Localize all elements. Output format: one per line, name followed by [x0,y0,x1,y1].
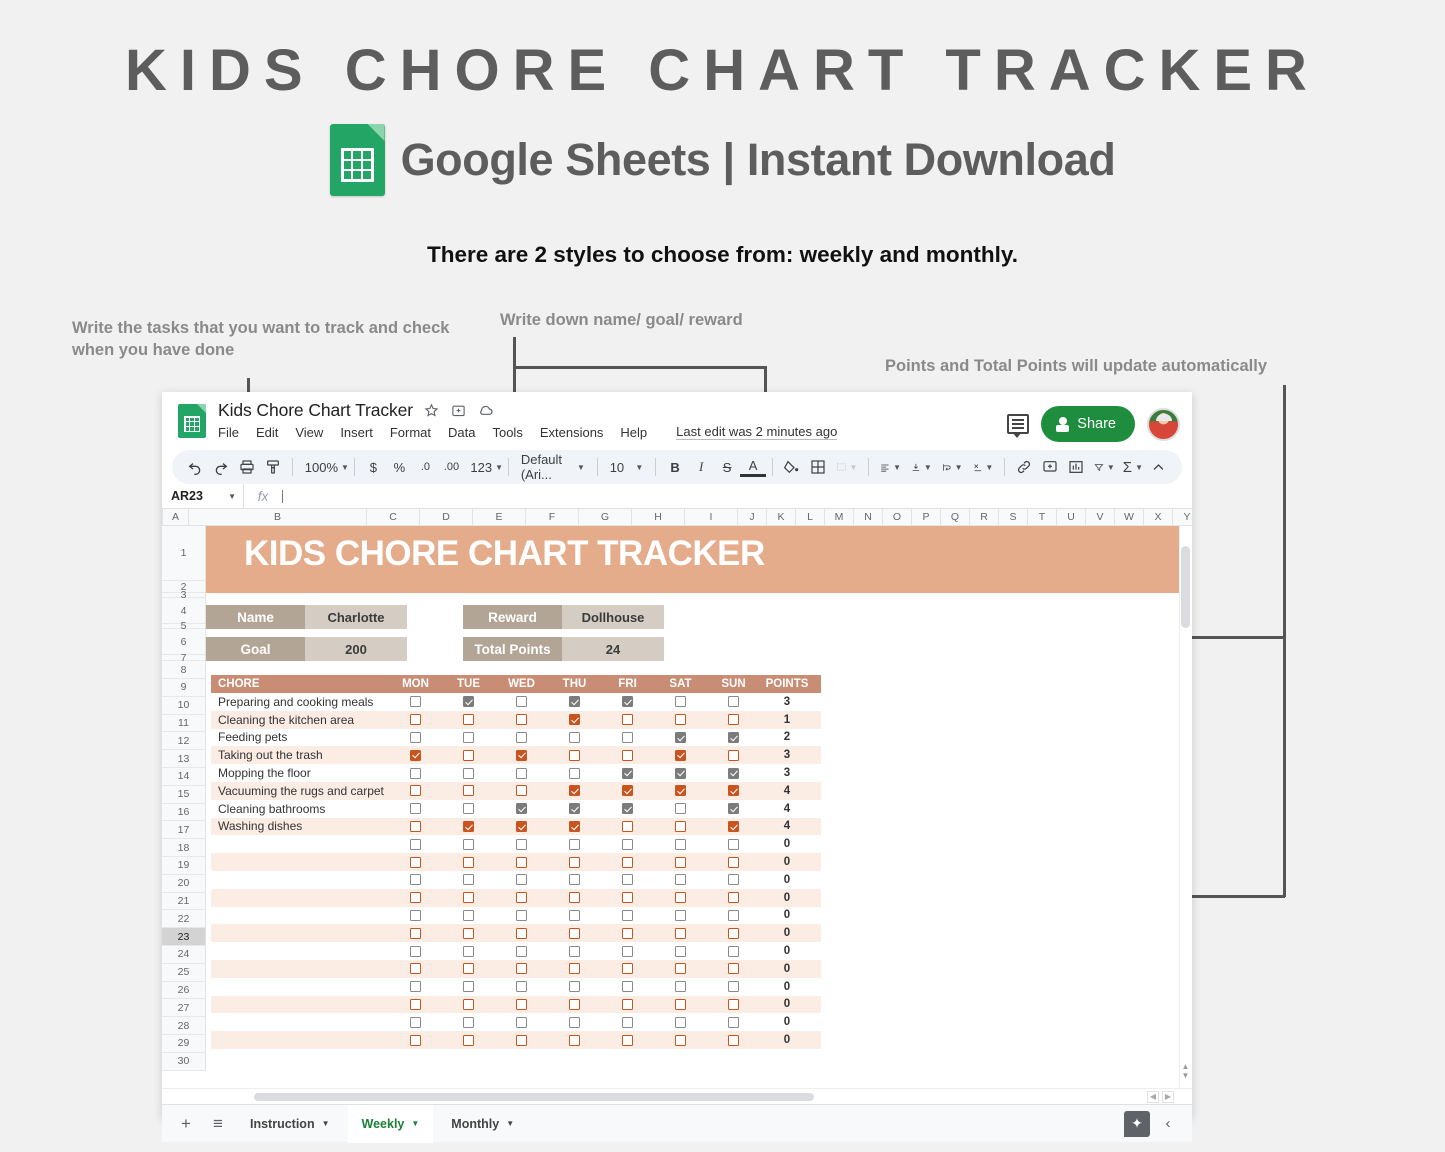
bold-button[interactable]: B [662,454,688,480]
chore-checkbox[interactable] [675,963,686,974]
column-header-t[interactable]: T [1028,509,1057,525]
chore-checkbox-cell-thu[interactable] [548,729,601,747]
chore-checkbox[interactable] [569,1017,580,1028]
vertical-align-icon[interactable]: ▼ [906,454,937,480]
chore-checkbox[interactable] [569,1035,580,1046]
chore-checkbox-cell-mon[interactable] [389,889,442,907]
chore-checkbox[interactable] [675,714,686,725]
chore-checkbox[interactable] [728,785,739,796]
chore-checkbox[interactable] [569,785,580,796]
column-header-x[interactable]: X [1144,509,1173,525]
chore-checkbox[interactable] [622,910,633,921]
chore-checkbox[interactable] [569,999,580,1010]
chevron-down-icon[interactable]: ▼ [322,1119,330,1128]
chore-checkbox[interactable] [675,732,686,743]
chore-checkbox-cell-sat[interactable] [654,907,707,925]
column-header-j[interactable]: J [738,509,767,525]
table-row[interactable]: Feeding pets2 [211,729,821,747]
chore-checkbox[interactable] [410,857,421,868]
menu-file[interactable]: File [218,425,239,440]
chore-checkbox-cell-wed[interactable] [495,996,548,1014]
chore-checkbox[interactable] [516,874,527,885]
chore-checkbox-cell-fri[interactable] [601,996,654,1014]
chore-checkbox[interactable] [728,732,739,743]
chore-checkbox[interactable] [516,946,527,957]
undo-icon[interactable] [182,454,208,480]
chore-name-cell[interactable]: Feeding pets [211,729,389,747]
chore-checkbox[interactable] [463,1017,474,1028]
table-row[interactable]: 0 [211,942,821,960]
chore-checkbox-cell-mon[interactable] [389,746,442,764]
chore-checkbox-cell-thu[interactable] [548,996,601,1014]
chore-checkbox-cell-fri[interactable] [601,711,654,729]
chore-checkbox[interactable] [728,696,739,707]
chore-checkbox[interactable] [516,785,527,796]
chore-checkbox[interactable] [463,857,474,868]
chore-checkbox[interactable] [622,839,633,850]
chore-checkbox[interactable] [675,750,686,761]
chore-checkbox-cell-fri[interactable] [601,889,654,907]
formula-input[interactable] [282,490,283,503]
zoom-select[interactable]: 100%▼ [299,454,348,480]
table-row[interactable]: Cleaning bathrooms4 [211,800,821,818]
strikethrough-button[interactable]: S [714,454,740,480]
column-header-c[interactable]: C [367,509,420,525]
chore-checkbox-cell-thu[interactable] [548,889,601,907]
tab-weekly[interactable]: Weekly ▼ [348,1105,434,1143]
chore-checkbox-cell-mon[interactable] [389,960,442,978]
chore-name-cell[interactable] [211,924,389,942]
chore-name-cell[interactable] [211,996,389,1014]
chore-checkbox-cell-thu[interactable] [548,818,601,836]
table-row[interactable]: 0 [211,996,821,1014]
chore-checkbox-cell-tue[interactable] [442,853,495,871]
chore-checkbox[interactable] [516,714,527,725]
chore-checkbox[interactable] [463,928,474,939]
chore-checkbox-cell-thu[interactable] [548,924,601,942]
chore-checkbox[interactable] [675,928,686,939]
chore-checkbox-cell-mon[interactable] [389,818,442,836]
chore-name-cell[interactable] [211,1013,389,1031]
chore-checkbox[interactable] [516,981,527,992]
chore-checkbox[interactable] [675,981,686,992]
column-header-n[interactable]: N [854,509,883,525]
chore-checkbox[interactable] [675,857,686,868]
chore-checkbox-cell-mon[interactable] [389,1031,442,1049]
filter-icon[interactable]: ▼ [1089,454,1120,480]
chore-checkbox-cell-sun[interactable] [707,764,760,782]
chore-checkbox[interactable] [622,999,633,1010]
table-row[interactable]: 0 [211,1013,821,1031]
chore-checkbox[interactable] [410,999,421,1010]
column-header-h[interactable]: H [632,509,685,525]
column-header-i[interactable]: I [685,509,738,525]
chore-checkbox[interactable] [569,946,580,957]
chore-checkbox-cell-sun[interactable] [707,960,760,978]
chore-checkbox-cell-tue[interactable] [442,942,495,960]
chore-checkbox[interactable] [675,1035,686,1046]
chore-checkbox-cell-sat[interactable] [654,889,707,907]
chore-checkbox-cell-tue[interactable] [442,1013,495,1031]
chore-checkbox-cell-fri[interactable] [601,978,654,996]
table-row[interactable]: 0 [211,960,821,978]
chore-checkbox[interactable] [569,732,580,743]
chore-checkbox-cell-wed[interactable] [495,871,548,889]
chore-name-cell[interactable]: Taking out the trash [211,746,389,764]
share-button[interactable]: Share [1041,406,1135,442]
chore-checkbox-cell-wed[interactable] [495,853,548,871]
chore-checkbox-cell-fri[interactable] [601,835,654,853]
column-header-q[interactable]: Q [941,509,970,525]
chore-checkbox[interactable] [410,928,421,939]
chore-name-cell[interactable] [211,978,389,996]
chore-checkbox-cell-fri[interactable] [601,693,654,711]
chore-checkbox-cell-tue[interactable] [442,711,495,729]
chore-checkbox[interactable] [622,874,633,885]
chore-checkbox[interactable] [463,874,474,885]
chore-checkbox-cell-tue[interactable] [442,978,495,996]
chore-checkbox-cell-mon[interactable] [389,871,442,889]
chore-checkbox-cell-tue[interactable] [442,835,495,853]
name-box[interactable]: AR23▼ [162,484,244,508]
reward-value[interactable]: Dollhouse [562,605,664,629]
table-row[interactable]: Mopping the floor3 [211,764,821,782]
table-row[interactable]: Cleaning the kitchen area1 [211,711,821,729]
collapse-toolbar-icon[interactable] [1146,454,1172,480]
chore-checkbox-cell-sun[interactable] [707,907,760,925]
chore-checkbox[interactable] [516,1035,527,1046]
chore-checkbox-cell-wed[interactable] [495,978,548,996]
chore-checkbox[interactable] [463,714,474,725]
chore-checkbox-cell-sat[interactable] [654,942,707,960]
chore-checkbox[interactable] [728,963,739,974]
menu-tools[interactable]: Tools [492,425,522,440]
chore-checkbox[interactable] [622,714,633,725]
name-value[interactable]: Charlotte [305,605,407,629]
column-header-w[interactable]: W [1115,509,1144,525]
chore-checkbox-cell-thu[interactable] [548,800,601,818]
chore-checkbox-cell-thu[interactable] [548,871,601,889]
chore-checkbox-cell-sat[interactable] [654,924,707,942]
comment-history-icon[interactable] [1007,414,1029,434]
chore-checkbox[interactable] [728,874,739,885]
chore-checkbox-cell-tue[interactable] [442,960,495,978]
chore-checkbox-cell-fri[interactable] [601,1031,654,1049]
chore-checkbox-cell-thu[interactable] [548,746,601,764]
chore-checkbox-cell-thu[interactable] [548,693,601,711]
chore-checkbox[interactable] [622,928,633,939]
italic-button[interactable]: I [688,454,714,480]
menu-view[interactable]: View [295,425,323,440]
chore-checkbox[interactable] [675,946,686,957]
chore-checkbox-cell-tue[interactable] [442,907,495,925]
chevron-down-icon[interactable]: ▼ [506,1119,514,1128]
font-size-select[interactable]: 10▼ [604,454,650,480]
chore-checkbox[interactable] [675,768,686,779]
chore-checkbox-cell-sat[interactable] [654,782,707,800]
chore-checkbox-cell-sat[interactable] [654,996,707,1014]
chore-checkbox-cell-sat[interactable] [654,1031,707,1049]
table-row[interactable]: 0 [211,1031,821,1049]
scroll-step-buttons[interactable]: ▲▼ [1180,1062,1191,1086]
chore-checkbox[interactable] [569,892,580,903]
chore-checkbox-cell-sat[interactable] [654,853,707,871]
chore-checkbox-cell-sat[interactable] [654,729,707,747]
chore-checkbox-cell-wed[interactable] [495,800,548,818]
chore-checkbox[interactable] [622,946,633,957]
chore-checkbox-cell-mon[interactable] [389,782,442,800]
chore-checkbox-cell-wed[interactable] [495,711,548,729]
chore-checkbox-cell-tue[interactable] [442,782,495,800]
chore-checkbox[interactable] [728,1017,739,1028]
functions-icon[interactable]: Σ▼ [1120,454,1146,480]
chore-checkbox[interactable] [728,928,739,939]
chore-checkbox-cell-sun[interactable] [707,853,760,871]
chore-checkbox-cell-sat[interactable] [654,960,707,978]
chore-checkbox[interactable] [569,821,580,832]
chore-checkbox[interactable] [569,910,580,921]
chore-name-cell[interactable]: Cleaning bathrooms [211,800,389,818]
star-icon[interactable] [423,402,440,419]
chore-checkbox-cell-tue[interactable] [442,889,495,907]
row-header-30[interactable]: 30 [162,1053,205,1071]
chore-checkbox[interactable] [410,714,421,725]
table-row[interactable]: 0 [211,853,821,871]
percent-format-button[interactable]: % [386,454,412,480]
chore-checkbox-cell-sun[interactable] [707,996,760,1014]
chore-checkbox-cell-sat[interactable] [654,711,707,729]
chore-checkbox[interactable] [728,750,739,761]
menu-help[interactable]: Help [620,425,647,440]
chore-checkbox-cell-fri[interactable] [601,960,654,978]
chore-checkbox-cell-fri[interactable] [601,871,654,889]
number-format-select[interactable]: 123▼ [464,454,502,480]
chore-checkbox-cell-sun[interactable] [707,1031,760,1049]
chore-checkbox[interactable] [728,714,739,725]
column-header-k[interactable]: K [767,509,796,525]
chore-checkbox[interactable] [463,696,474,707]
table-row[interactable]: 0 [211,924,821,942]
paint-format-icon[interactable] [260,454,286,480]
chore-checkbox-cell-thu[interactable] [548,835,601,853]
chore-checkbox[interactable] [410,732,421,743]
chore-name-cell[interactable] [211,1031,389,1049]
chore-checkbox-cell-mon[interactable] [389,942,442,960]
chore-checkbox[interactable] [728,946,739,957]
chore-checkbox-cell-wed[interactable] [495,729,548,747]
chore-checkbox-cell-thu[interactable] [548,1013,601,1031]
table-row[interactable]: Taking out the trash3 [211,746,821,764]
chore-checkbox-cell-sat[interactable] [654,764,707,782]
chore-checkbox[interactable] [675,874,686,885]
chore-checkbox[interactable] [622,768,633,779]
chore-checkbox[interactable] [622,732,633,743]
chore-checkbox[interactable] [675,839,686,850]
document-title[interactable]: Kids Chore Chart Tracker [218,400,413,421]
chore-checkbox[interactable] [463,892,474,903]
chore-checkbox[interactable] [728,910,739,921]
chore-checkbox[interactable] [622,1017,633,1028]
redo-icon[interactable] [208,454,234,480]
column-header-r[interactable]: R [970,509,999,525]
insert-chart-icon[interactable] [1063,454,1089,480]
chore-checkbox[interactable] [728,839,739,850]
column-header-d[interactable]: D [420,509,473,525]
tab-monthly[interactable]: Monthly ▼ [437,1105,528,1143]
chore-checkbox[interactable] [569,963,580,974]
currency-format-button[interactable]: $ [360,454,386,480]
column-header-m[interactable]: M [825,509,854,525]
chore-name-cell[interactable] [211,889,389,907]
chore-checkbox[interactable] [622,1035,633,1046]
chore-checkbox-cell-fri[interactable] [601,782,654,800]
chore-checkbox-cell-sun[interactable] [707,711,760,729]
chore-checkbox[interactable] [463,803,474,814]
chore-checkbox-cell-sat[interactable] [654,693,707,711]
chore-checkbox[interactable] [516,750,527,761]
chore-checkbox-cell-thu[interactable] [548,764,601,782]
chore-checkbox[interactable] [463,768,474,779]
chore-name-cell[interactable] [211,871,389,889]
chore-checkbox-cell-tue[interactable] [442,924,495,942]
chore-checkbox-cell-sun[interactable] [707,835,760,853]
chore-checkbox-cell-sun[interactable] [707,942,760,960]
chore-checkbox[interactable] [410,696,421,707]
column-header-v[interactable]: V [1086,509,1115,525]
chore-checkbox[interactable] [410,750,421,761]
increase-decimal-button[interactable]: .00 [438,454,464,480]
chore-checkbox-cell-sat[interactable] [654,1013,707,1031]
fill-color-icon[interactable] [779,454,805,480]
add-sheet-icon[interactable]: + [172,1110,200,1138]
table-row[interactable]: Preparing and cooking meals3 [211,693,821,711]
chore-checkbox-cell-fri[interactable] [601,764,654,782]
chore-checkbox-cell-sun[interactable] [707,1013,760,1031]
chore-checkbox-cell-fri[interactable] [601,907,654,925]
chore-checkbox[interactable] [516,910,527,921]
text-color-button[interactable]: A [740,458,766,477]
chore-checkbox[interactable] [569,857,580,868]
chore-checkbox-cell-thu[interactable] [548,907,601,925]
chore-checkbox[interactable] [410,963,421,974]
chore-checkbox[interactable] [728,981,739,992]
chore-checkbox[interactable] [728,857,739,868]
chore-checkbox[interactable] [569,768,580,779]
chore-name-cell[interactable]: Vacuuming the rugs and carpet [211,782,389,800]
chore-checkbox-cell-tue[interactable] [442,1031,495,1049]
chore-checkbox[interactable] [569,714,580,725]
chore-checkbox-cell-thu[interactable] [548,1031,601,1049]
horizontal-scroll-buttons[interactable]: ◀▶ [1147,1091,1174,1103]
chore-checkbox-cell-wed[interactable] [495,818,548,836]
chore-checkbox[interactable] [516,963,527,974]
chore-checkbox-cell-tue[interactable] [442,818,495,836]
chore-checkbox-cell-sat[interactable] [654,800,707,818]
chore-checkbox-cell-tue[interactable] [442,996,495,1014]
chore-checkbox[interactable] [463,999,474,1010]
chore-checkbox[interactable] [675,910,686,921]
chore-checkbox-cell-fri[interactable] [601,1013,654,1031]
chore-checkbox[interactable] [728,892,739,903]
move-to-folder-icon[interactable] [450,402,467,419]
chore-checkbox[interactable] [410,1035,421,1046]
chore-checkbox-cell-wed[interactable] [495,924,548,942]
chore-checkbox[interactable] [463,1035,474,1046]
column-header-u[interactable]: U [1057,509,1086,525]
chore-checkbox-cell-wed[interactable] [495,942,548,960]
chore-checkbox[interactable] [728,803,739,814]
chore-checkbox-cell-sun[interactable] [707,871,760,889]
chore-checkbox-cell-fri[interactable] [601,942,654,960]
chore-checkbox-cell-sat[interactable] [654,746,707,764]
column-header-a[interactable]: A [163,509,189,525]
chore-checkbox-cell-sun[interactable] [707,924,760,942]
column-header-g[interactable]: G [579,509,632,525]
chore-checkbox-cell-mon[interactable] [389,996,442,1014]
table-row[interactable]: 0 [211,907,821,925]
vertical-scrollbar-thumb[interactable] [1181,546,1190,628]
column-header-o[interactable]: O [883,509,912,525]
chevron-down-icon[interactable]: ▼ [411,1119,419,1128]
chore-checkbox[interactable] [569,839,580,850]
text-wrap-icon[interactable]: ▼ [937,454,968,480]
chore-checkbox-cell-sun[interactable] [707,978,760,996]
chore-checkbox-cell-tue[interactable] [442,800,495,818]
chore-checkbox[interactable] [516,928,527,939]
chore-checkbox[interactable] [516,999,527,1010]
menu-extensions[interactable]: Extensions [540,425,604,440]
chore-checkbox[interactable] [569,928,580,939]
chore-checkbox[interactable] [516,696,527,707]
chore-checkbox-cell-sun[interactable] [707,693,760,711]
chore-checkbox-cell-sun[interactable] [707,782,760,800]
insert-comment-icon[interactable] [1037,454,1063,480]
chore-checkbox-cell-fri[interactable] [601,729,654,747]
chore-checkbox[interactable] [675,785,686,796]
chore-checkbox-cell-wed[interactable] [495,764,548,782]
menu-data[interactable]: Data [448,425,475,440]
chore-checkbox[interactable] [410,910,421,921]
chore-checkbox[interactable] [410,785,421,796]
column-header-b[interactable]: B [189,509,367,525]
insert-link-icon[interactable] [1011,454,1037,480]
column-header-y[interactable]: Y [1173,509,1192,525]
chore-checkbox[interactable] [622,821,633,832]
chore-checkbox-cell-tue[interactable] [442,764,495,782]
chore-checkbox[interactable] [622,803,633,814]
chore-checkbox-cell-wed[interactable] [495,1013,548,1031]
chore-checkbox[interactable] [516,839,527,850]
column-header-l[interactable]: L [796,509,825,525]
chore-checkbox-cell-mon[interactable] [389,764,442,782]
chore-name-cell[interactable] [211,960,389,978]
column-header-f[interactable]: F [526,509,579,525]
chore-checkbox-cell-fri[interactable] [601,746,654,764]
chore-checkbox-cell-fri[interactable] [601,800,654,818]
chore-checkbox-cell-wed[interactable] [495,907,548,925]
chore-checkbox-cell-fri[interactable] [601,853,654,871]
text-rotation-icon[interactable]: ▼ [968,454,999,480]
table-row[interactable]: 0 [211,978,821,996]
chore-checkbox-cell-mon[interactable] [389,711,442,729]
print-icon[interactable] [234,454,260,480]
chore-checkbox[interactable] [516,768,527,779]
collapse-panel-icon[interactable]: ‹ [1154,1110,1182,1138]
chore-checkbox[interactable] [569,750,580,761]
table-row[interactable]: 0 [211,835,821,853]
chore-checkbox[interactable] [463,750,474,761]
font-family-select[interactable]: Default (Ari...▼ [515,454,591,480]
